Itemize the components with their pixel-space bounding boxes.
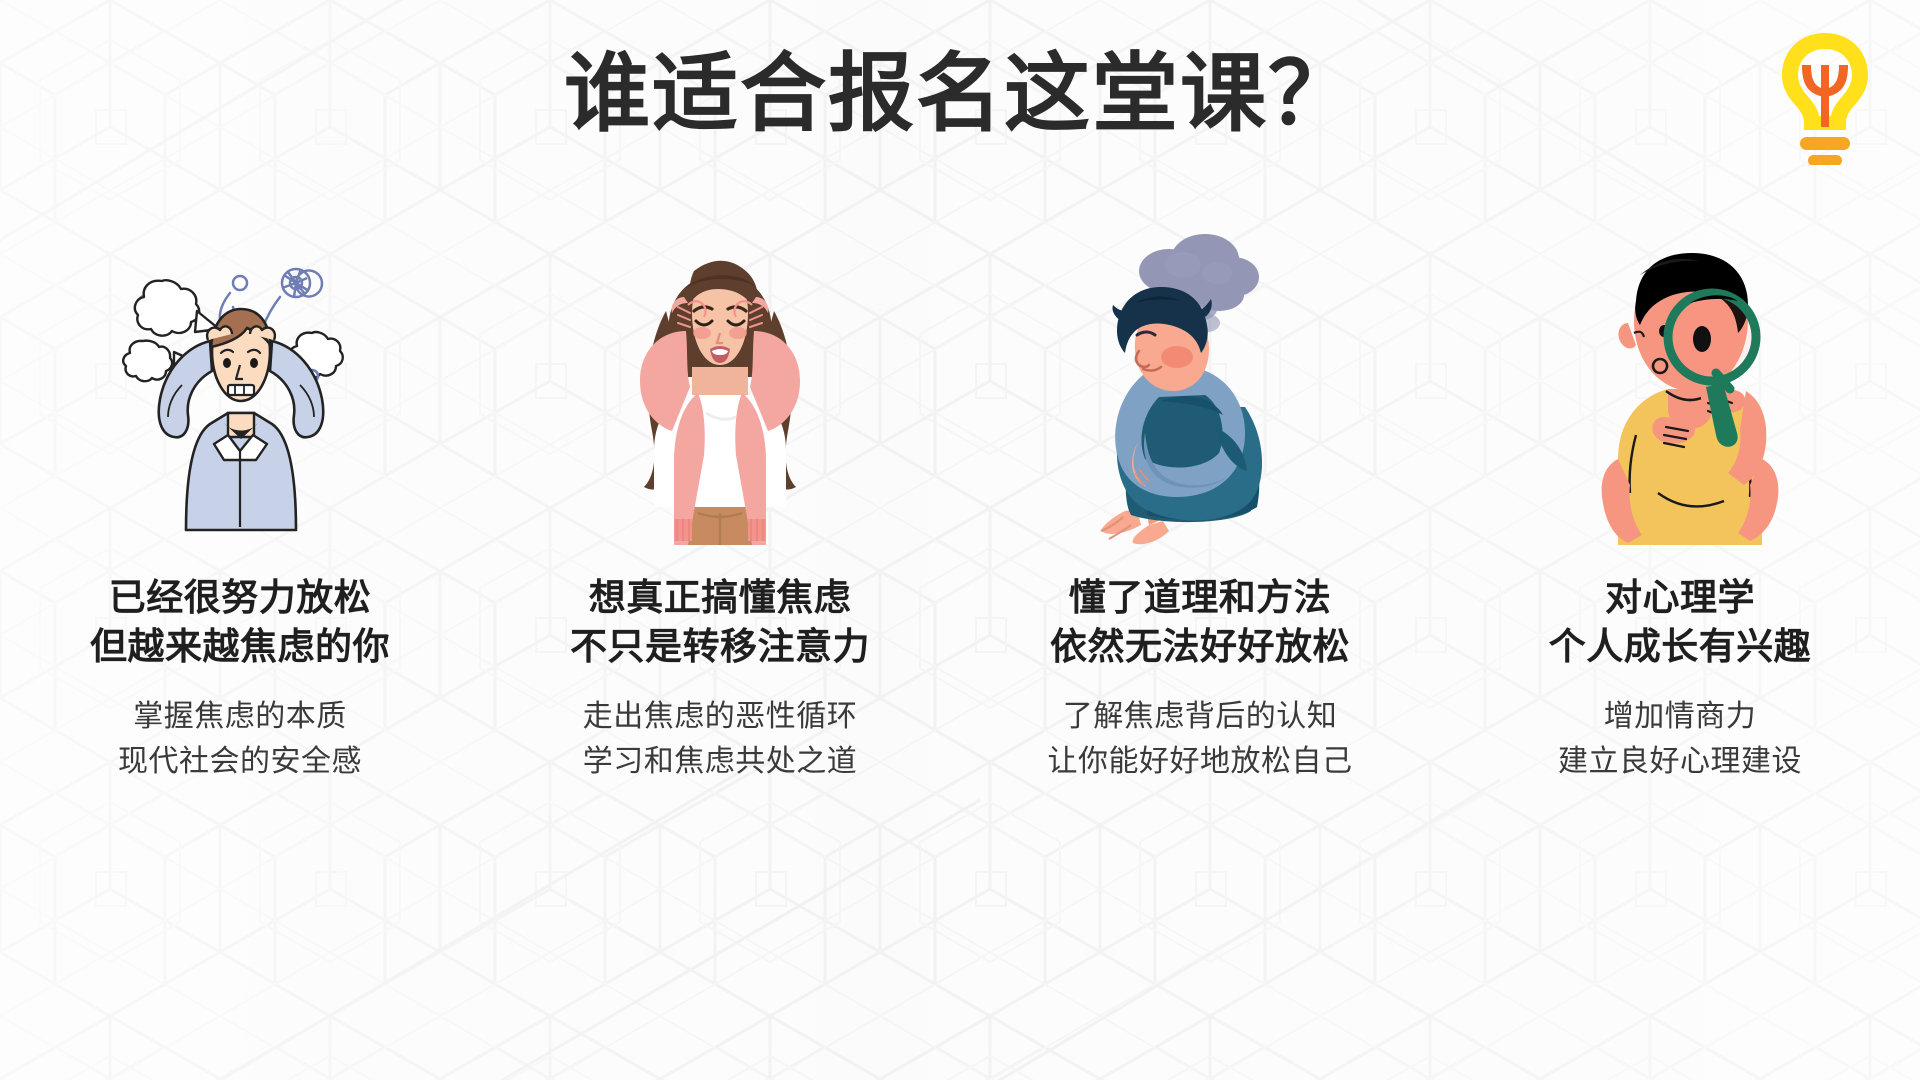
card-1-title: 已经很努力放松 但越来越焦虑的你 (90, 573, 390, 671)
card-4-title: 对心理学 个人成长有兴趣 (1549, 573, 1812, 671)
slide-root: 谁适合报名这堂课？ (0, 0, 1920, 1080)
card-2-title: 想真正搞懂焦虑 不只是转移注意力 (570, 573, 870, 671)
card-4: 对心理学 个人成长有兴趣 增加情商力 建立良好心理建设 (1440, 215, 1920, 855)
card-2: 想真正搞懂焦虑 不只是转移注意力 走出焦虑的恶性循环 学习和焦虑共处之道 (480, 215, 960, 855)
card-4-subtitle: 增加情商力 建立良好心理建设 (1558, 695, 1802, 783)
lightbulb-psi-icon (1770, 25, 1880, 165)
curious-person-magnifier-illustration (1440, 215, 1920, 545)
stressed-man-illustration (0, 215, 480, 545)
overwhelmed-woman-illustration (480, 215, 960, 545)
card-row: 已经很努力放松 但越来越焦虑的你 掌握焦虑的本质 现代社会的安全感 (0, 215, 1920, 855)
sad-person-raincloud-illustration (960, 215, 1440, 545)
card-3-subtitle: 了解焦虑背后的认知 让你能好好地放松自己 (1048, 695, 1353, 783)
page-title: 谁适合报名这堂课？ (0, 48, 1920, 141)
card-3-title: 懂了道理和方法 依然无法好好放松 (1050, 573, 1350, 671)
card-1: 已经很努力放松 但越来越焦虑的你 掌握焦虑的本质 现代社会的安全感 (0, 215, 480, 855)
card-2-subtitle: 走出焦虑的恶性循环 学习和焦虑共处之道 (583, 695, 858, 783)
card-1-subtitle: 掌握焦虑的本质 现代社会的安全感 (118, 695, 362, 783)
card-3: 懂了道理和方法 依然无法好好放松 了解焦虑背后的认知 让你能好好地放松自己 (960, 215, 1440, 855)
